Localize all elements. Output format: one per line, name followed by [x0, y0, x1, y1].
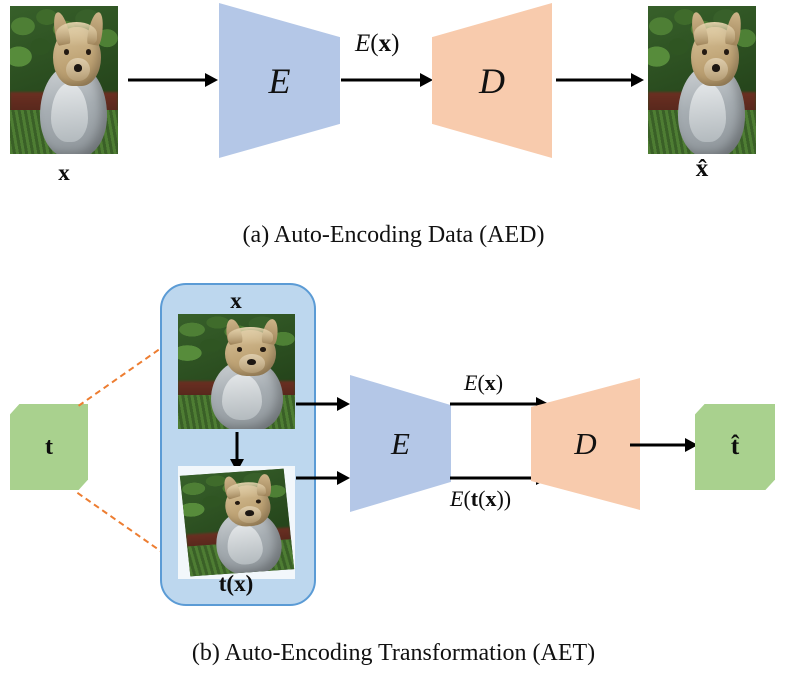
dog-fringe — [56, 22, 97, 46]
arrow-head — [205, 73, 218, 87]
panel-a-arrow-decoder-to-output — [556, 72, 644, 88]
panel-b-dashed-line-top — [78, 343, 168, 407]
arrow-head — [337, 471, 350, 485]
panel-b-transformation-shape: t — [10, 404, 88, 490]
arrow-shaft — [450, 403, 538, 406]
panel-a-output-image — [648, 6, 756, 154]
panel-a-decoder-label: D — [432, 60, 552, 102]
panel-b-predicted-transformation-shape: t̂ — [695, 404, 775, 490]
panel-a-encoder: E — [219, 3, 340, 158]
panel-a-latent-label: E(x) — [355, 30, 399, 58]
panel-b-latent-top-label: E(x) — [464, 370, 503, 396]
dog-chest — [689, 83, 726, 142]
arrow-head — [337, 397, 350, 411]
panel-b-caption: (b) Auto-Encoding Transformation (AET) — [0, 640, 787, 667]
dog-nose — [712, 64, 721, 72]
panel-b-arrow-decoder-to-output — [630, 437, 698, 453]
arrow-head — [631, 73, 644, 87]
arrow-shaft — [630, 444, 686, 447]
panel-a-encoder-label: E — [219, 60, 340, 102]
arrow-shaft — [236, 432, 239, 462]
dog-eye-right — [260, 347, 266, 352]
panel-b-predicted-transformation-label: t̂ — [731, 433, 739, 461]
panel-a-arrow-input-to-encoder — [128, 72, 218, 88]
arrow-shaft — [341, 79, 421, 82]
panel-a-input-image — [10, 6, 118, 154]
panel-b-original-image-label: x — [160, 288, 312, 314]
panel-b-transformed-image — [180, 469, 294, 577]
figure-root: x E E(x) D x̂ (a) A — [0, 0, 787, 679]
arrow-shaft — [450, 477, 538, 480]
dog-eye-right — [86, 49, 91, 55]
dog-fringe — [694, 22, 735, 46]
panel-a-decoder: D — [432, 3, 552, 158]
arrow-shaft — [556, 79, 632, 82]
dog-eye-left — [237, 347, 243, 352]
panel-b-transformation-label: t — [45, 434, 53, 461]
panel-a-output-label: x̂ — [648, 155, 756, 183]
panel-b-original-image — [178, 314, 295, 429]
panel-b-transformed-image-frame — [178, 466, 295, 579]
panel-b-arrow-original-to-encoder — [296, 396, 350, 412]
arrow-shaft — [128, 79, 206, 82]
arrow-shaft — [296, 403, 339, 406]
panel-a-arrow-encoder-to-decoder — [341, 72, 433, 88]
panel-b-encoder: E — [350, 375, 451, 512]
panel-b-latent-bottom-label: E(t(x)) — [450, 486, 511, 512]
panel-a-caption: (a) Auto-Encoding Data (AED) — [0, 222, 787, 249]
arrow-head — [420, 73, 433, 87]
panel-b-decoder-label: D — [531, 426, 640, 462]
panel-b-encoder-label: E — [350, 426, 451, 462]
dog-fringe — [228, 327, 272, 345]
dog-nose — [245, 510, 254, 516]
arrow-shaft — [296, 477, 339, 480]
panel-b-transformed-image-label: t(x) — [160, 571, 312, 597]
dog-nose — [74, 64, 83, 72]
panel-a-input-label: x — [10, 160, 118, 186]
panel-b-arrow-transformed-to-encoder — [296, 470, 350, 486]
dog-chest — [51, 83, 88, 142]
dog-eye-right — [724, 49, 729, 55]
